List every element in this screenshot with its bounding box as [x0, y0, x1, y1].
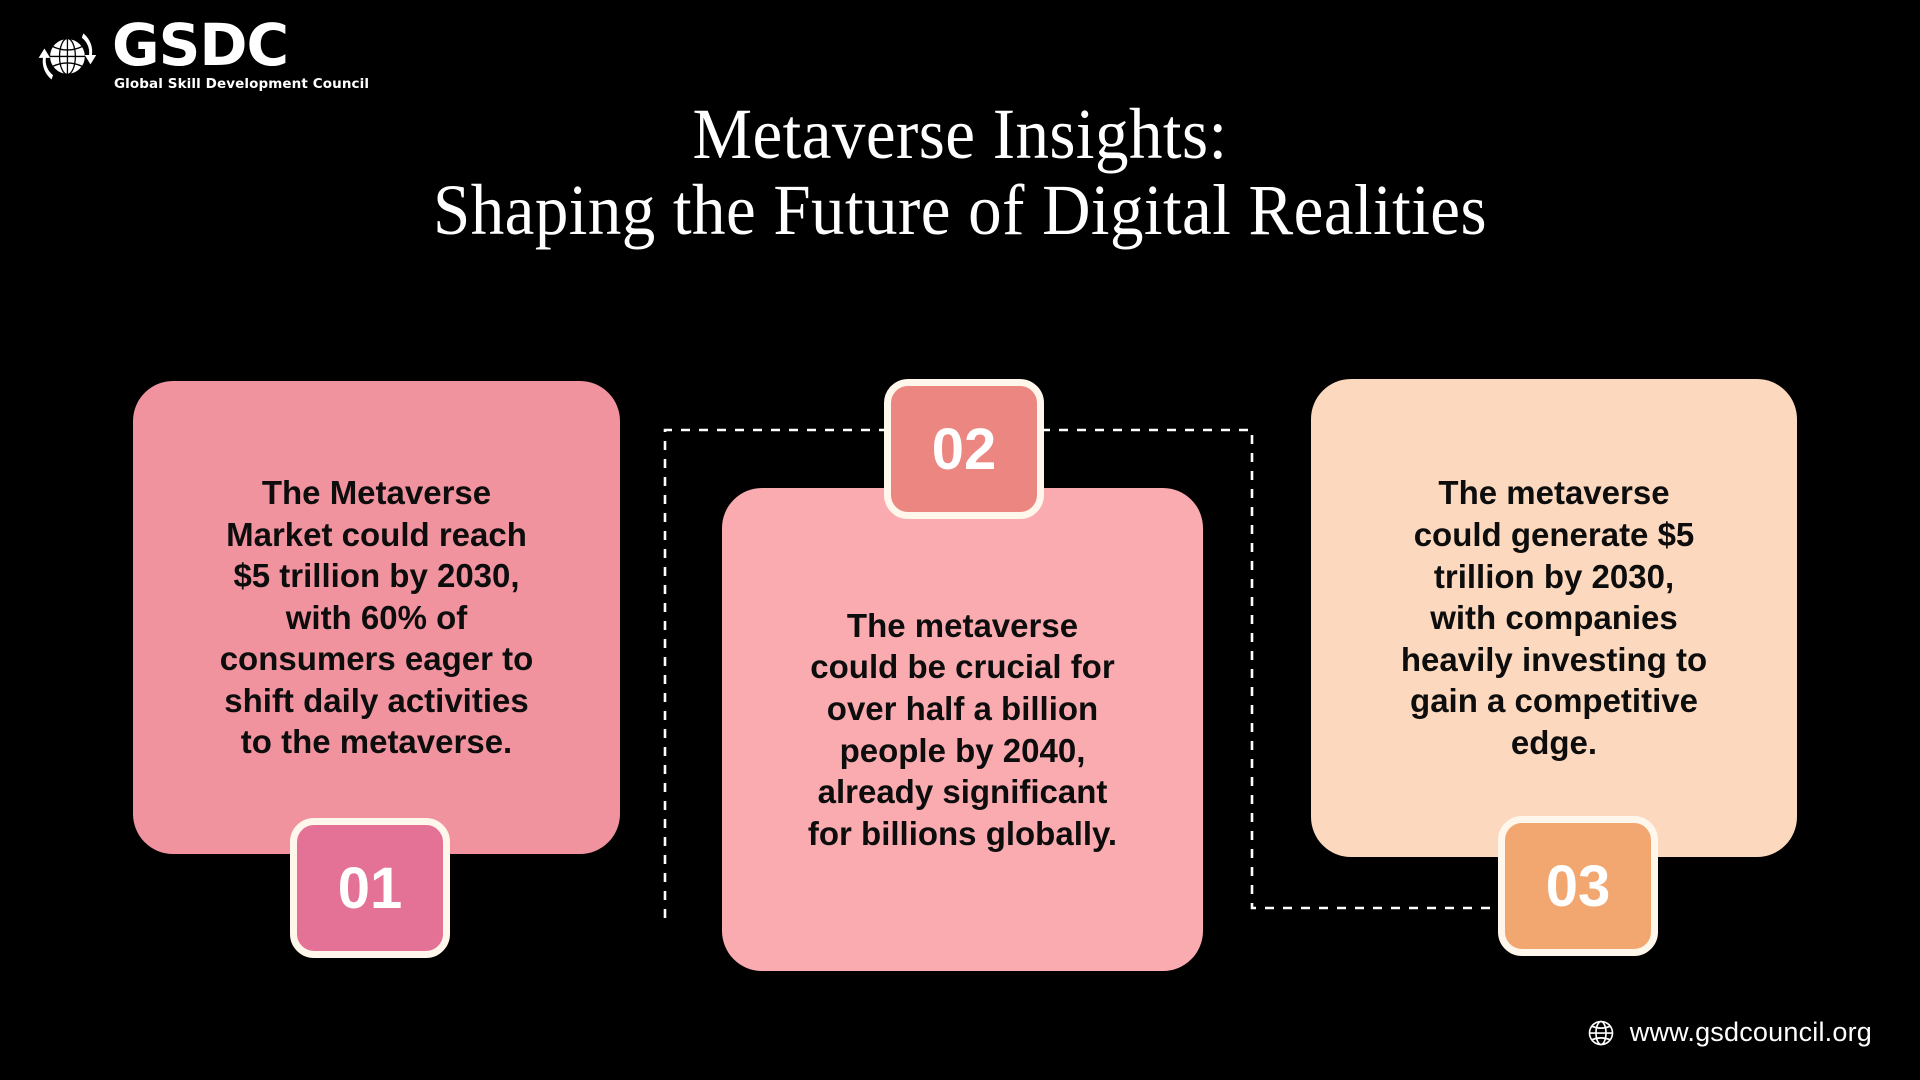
title-line-1: Metaverse Insights:: [67, 96, 1853, 172]
page-title: Metaverse Insights: Shaping the Future o…: [0, 96, 1920, 249]
insight-card-1: The Metaverse Market could reach $5 tril…: [133, 381, 620, 854]
insight-badge-2-number: 02: [932, 416, 997, 483]
footer: www.gsdcouncil.org: [1586, 1017, 1872, 1048]
brand-logo: GSDC Global Skill Development Council: [30, 18, 369, 92]
globe-icon: [1586, 1018, 1616, 1048]
infographic-canvas: GSDC Global Skill Development Council Me…: [0, 0, 1920, 1080]
brand-tagline: Global Skill Development Council: [114, 76, 369, 92]
footer-url[interactable]: www.gsdcouncil.org: [1630, 1017, 1872, 1048]
insight-badge-1: 01: [290, 818, 450, 958]
insight-badge-1-number: 01: [338, 855, 403, 922]
title-line-2: Shaping the Future of Digital Realities: [67, 172, 1853, 248]
insight-card-2: The metaverse could be crucial for over …: [722, 488, 1203, 971]
insight-card-3-text: The metaverse could generate $5 trillion…: [1375, 472, 1733, 763]
insight-badge-2: 02: [884, 379, 1044, 519]
insight-card-3: The metaverse could generate $5 trillion…: [1311, 379, 1797, 857]
insight-badge-3: 03: [1498, 816, 1658, 956]
insight-card-2-text: The metaverse could be crucial for over …: [782, 605, 1143, 854]
brand-name: GSDC: [112, 18, 288, 74]
insight-card-1-text: The Metaverse Market could reach $5 tril…: [194, 472, 560, 763]
insight-badge-3-number: 03: [1546, 853, 1611, 920]
globe-icon: [30, 19, 102, 91]
